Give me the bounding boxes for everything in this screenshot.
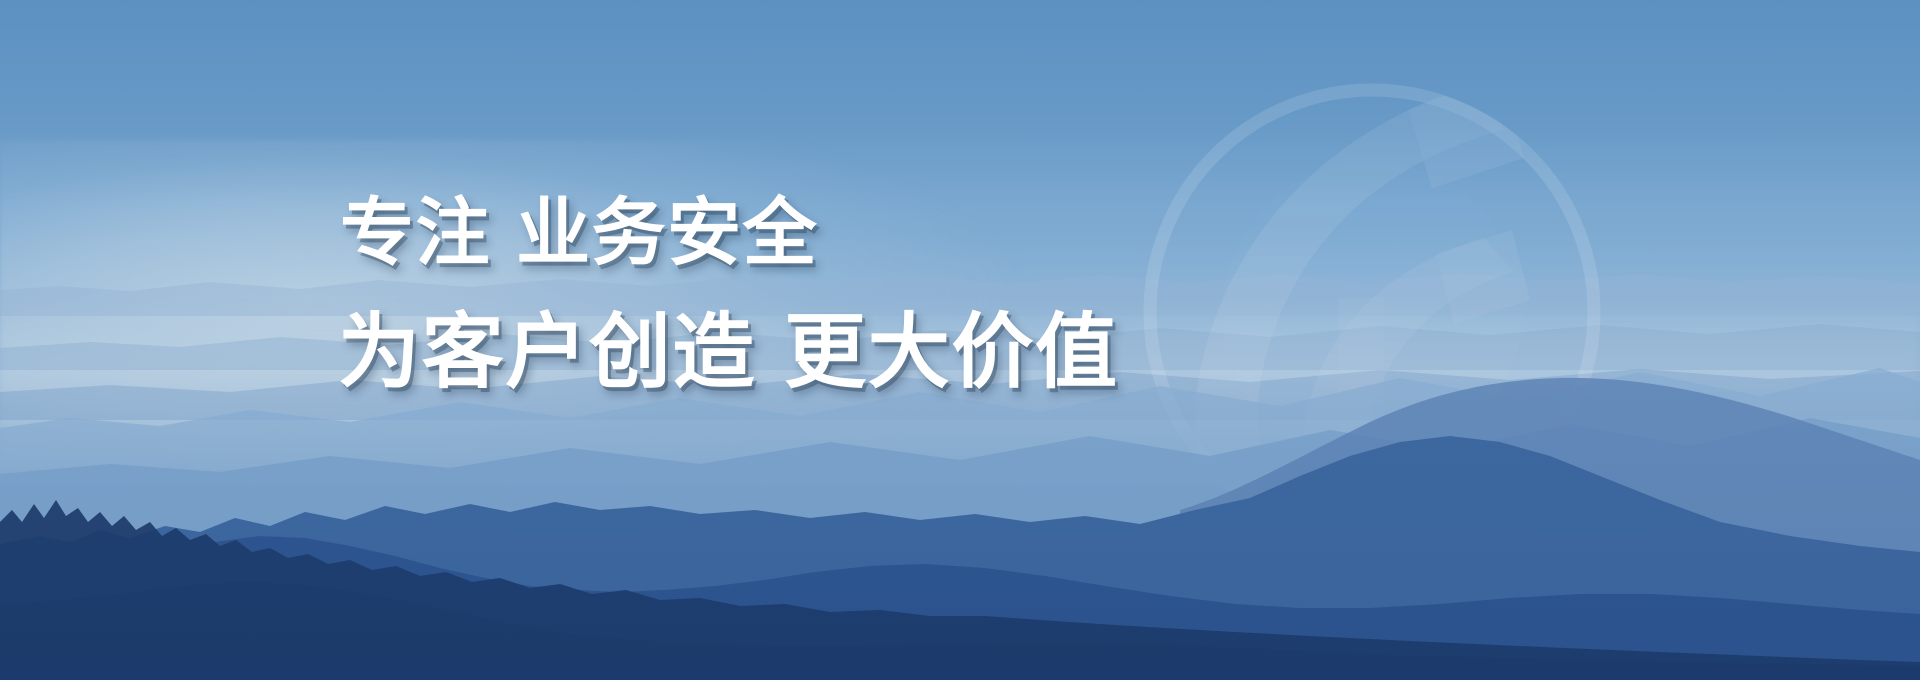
headline-line-1-part-b: 业务安全 xyxy=(516,191,818,274)
headline-line-2-part-a: 为客户创造 xyxy=(338,307,756,398)
headline-line-1-part-a: 专注 xyxy=(340,191,491,274)
hero-banner: 专注业务安全 为客户创造更大价值 xyxy=(0,0,1920,680)
headline-line-2-part-b: 更大价值 xyxy=(784,307,1119,398)
headline-block: 专注业务安全 为客户创造更大价值 xyxy=(336,196,1336,394)
headline-line-2: 为客户创造更大价值 xyxy=(338,312,1336,394)
headline-line-1: 专注业务安全 xyxy=(340,196,1336,270)
